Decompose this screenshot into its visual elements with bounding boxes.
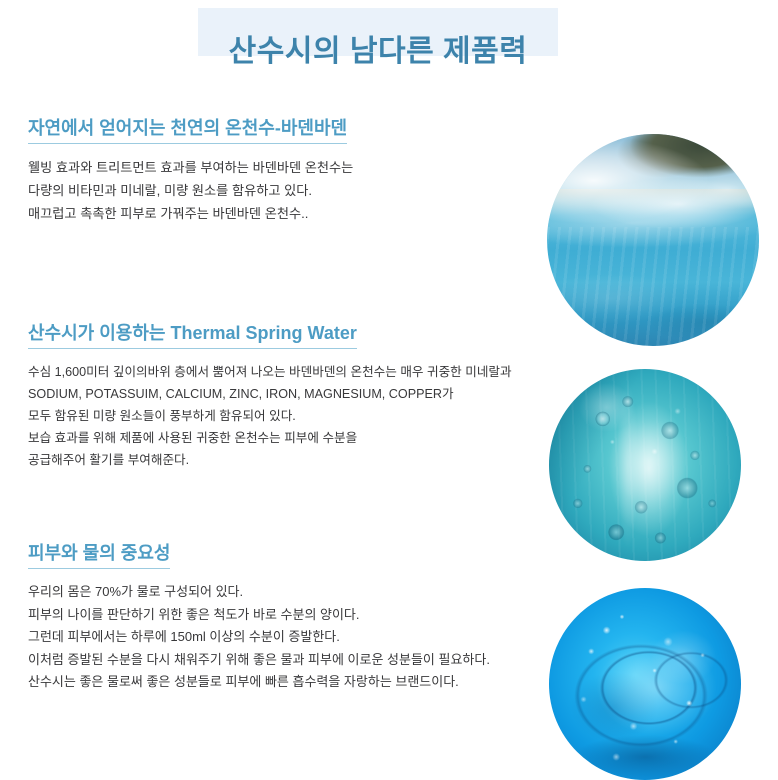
section-2-body: 수심 1,600미터 깊이의바위 층에서 뿜어져 나오는 바덴바덴의 온천수는 … bbox=[28, 361, 540, 471]
body-line: 매끄럽고 촉촉한 피부로 가꿔주는 바덴바덴 온천수.. bbox=[28, 202, 540, 225]
hot-spring-steam-layer bbox=[547, 134, 759, 346]
body-line: 보습 효과를 위해 제품에 사용된 귀중한 온천수는 피부에 수분을 bbox=[28, 427, 540, 449]
section-1-heading: 자연에서 얻어지는 천연의 온천수-바덴바덴 bbox=[28, 114, 347, 144]
feature-section-1: 자연에서 얻어지는 천연의 온천수-바덴바덴 웰빙 효과와 트리트먼트 효과를 … bbox=[28, 114, 540, 225]
gel-droplet-layer bbox=[549, 588, 741, 780]
feature-section-3: 피부와 물의 중요성 우리의 몸은 70%가 물로 구성되어 있다. 피부의 나… bbox=[28, 539, 540, 694]
page-title-area: 산수시의 남다른 제품력 bbox=[0, 0, 778, 66]
section-2-heading: 산수시가 이용하는 Thermal Spring Water bbox=[28, 319, 357, 349]
section-1-body: 웰빙 효과와 트리트먼트 효과를 부여하는 바덴바덴 온천수는 다량의 비타민과… bbox=[28, 156, 540, 225]
body-line: SODIUM, POTASSUIM, CALCIUM, ZINC, IRON, … bbox=[28, 383, 540, 405]
section-3-heading: 피부와 물의 중요성 bbox=[28, 539, 170, 569]
blue-gel-splash-photo bbox=[549, 588, 741, 780]
body-line: 피부의 나이를 판단하기 위한 좋은 척도가 바로 수분의 양이다. bbox=[28, 604, 540, 627]
bubbly-teal-water-photo bbox=[549, 369, 741, 561]
body-line: 이처럼 증발된 수분을 다시 채워주기 위해 좋은 물과 피부에 이로운 성분들… bbox=[28, 649, 540, 672]
feature-section-2: 산수시가 이용하는 Thermal Spring Water 수심 1,600미… bbox=[28, 319, 540, 471]
teal-water-bubble-layer bbox=[549, 369, 741, 561]
hot-spring-steam-photo bbox=[547, 134, 759, 346]
body-line: 모두 함유된 미량 원소들이 풍부하게 함유되어 있다. bbox=[28, 405, 540, 427]
body-line: 우리의 몸은 70%가 물로 구성되어 있다. bbox=[28, 581, 540, 604]
body-line: 다량의 비타민과 미네랄, 미량 원소를 함유하고 있다. bbox=[28, 179, 540, 202]
image-column bbox=[540, 66, 778, 734]
product-feature-page: { "page": { "title": "산수시의 남다른 제품력", "ti… bbox=[0, 0, 778, 734]
body-line: 웰빙 효과와 트리트먼트 효과를 부여하는 바덴바덴 온천수는 bbox=[28, 156, 540, 179]
body-line: 산수시는 좋은 물로써 좋은 성분들로 피부에 빠른 흡수력을 자랑하는 브랜드… bbox=[28, 671, 540, 694]
body-line: 수심 1,600미터 깊이의바위 층에서 뿜어져 나오는 바덴바덴의 온천수는 … bbox=[28, 361, 540, 383]
content-area: 자연에서 얻어지는 천연의 온천수-바덴바덴 웰빙 효과와 트리트먼트 효과를 … bbox=[0, 66, 778, 734]
section-3-body: 우리의 몸은 70%가 물로 구성되어 있다. 피부의 나이를 판단하기 위한 … bbox=[28, 581, 540, 694]
body-line: 그런데 피부에서는 하루에 150ml 이상의 수분이 증발한다. bbox=[28, 626, 540, 649]
body-line: 공급해주어 활기를 부여해준다. bbox=[28, 449, 540, 471]
